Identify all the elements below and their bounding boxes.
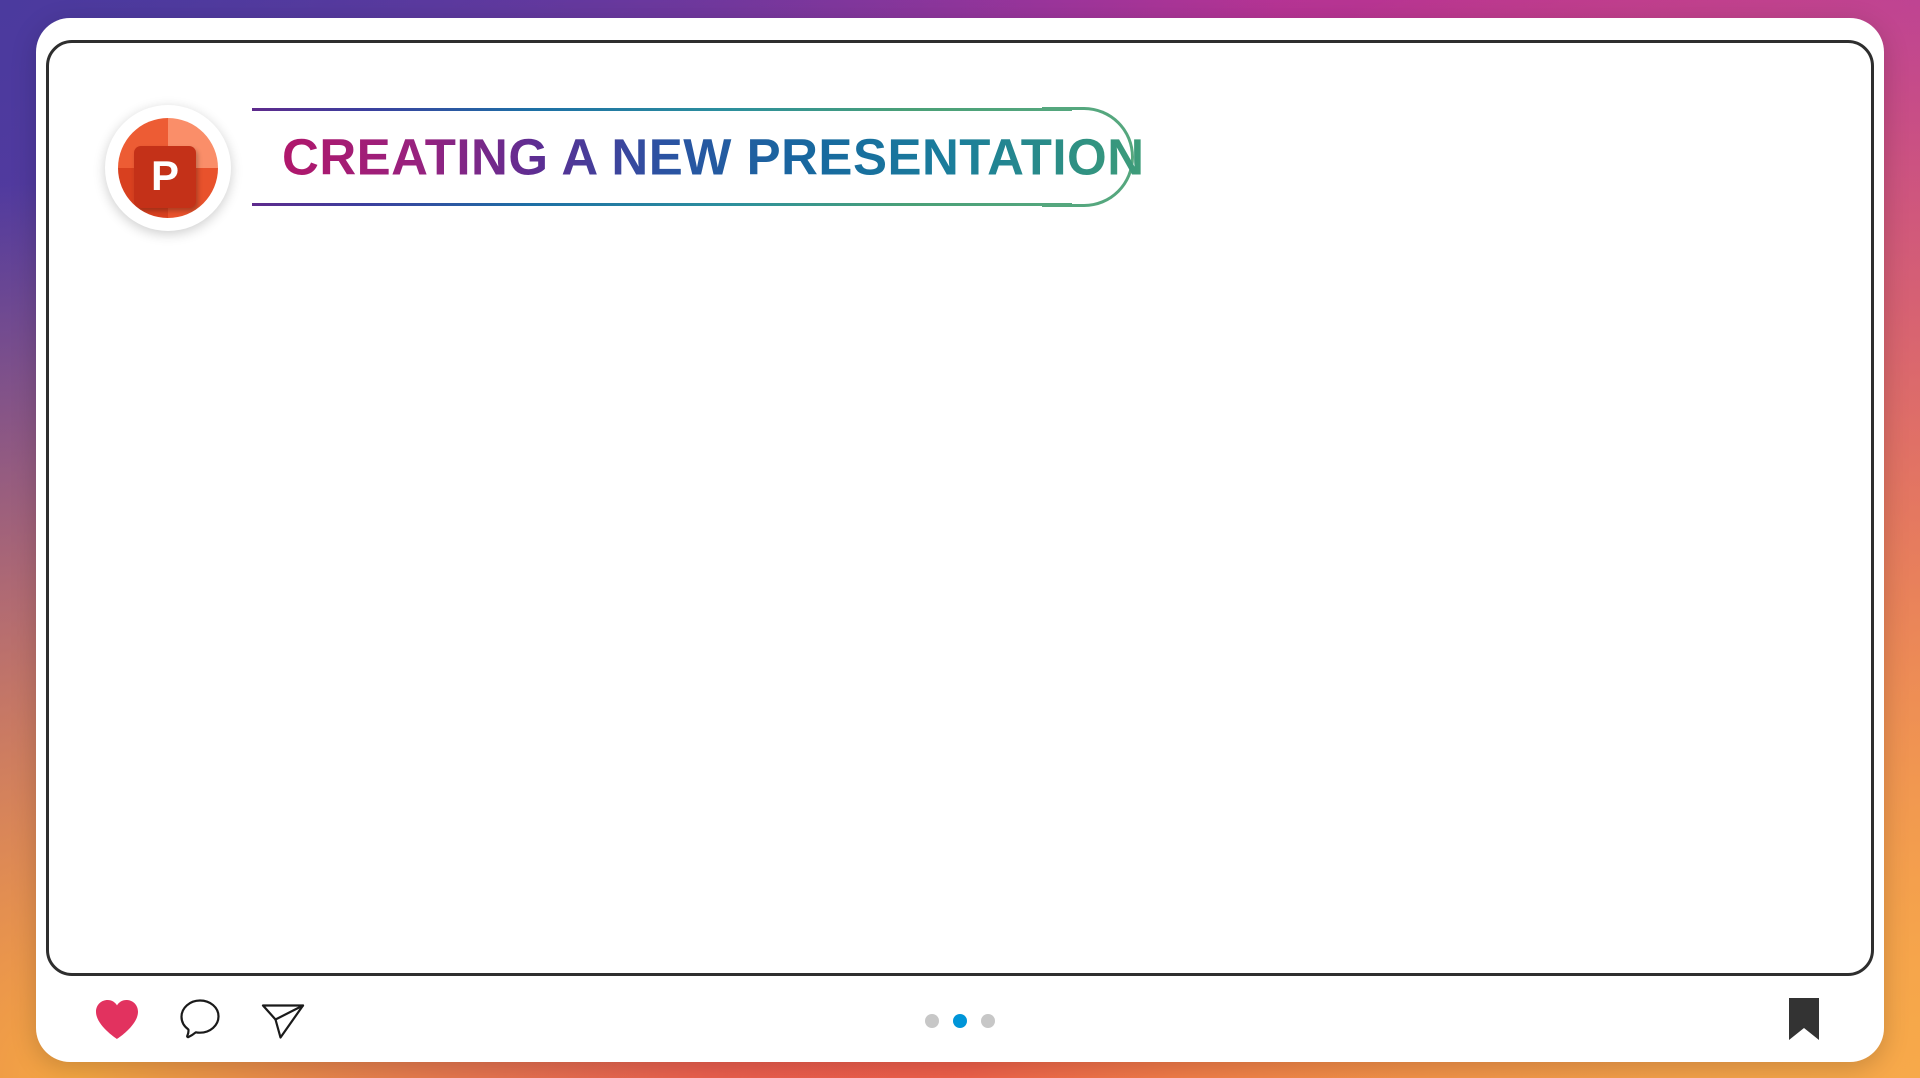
paper-plane-icon[interactable] [260,997,306,1046]
powerpoint-logo: P [105,105,231,231]
slide-body-text [252,253,1652,903]
powerpoint-letter-tile: P [134,146,196,208]
banner-bottom-rule [252,203,1072,206]
powerpoint-letter: P [134,146,196,208]
carousel-dot-2[interactable] [953,1014,967,1028]
instagram-post-backdrop: CREATING A NEW PRESENTATION P [0,0,1920,1078]
heart-icon[interactable] [94,998,140,1045]
action-bar-left-group [94,980,306,1062]
carousel-dots [36,980,1884,1062]
slide-canvas[interactable]: CREATING A NEW PRESENTATION P [46,40,1874,976]
post-card: CREATING A NEW PRESENTATION P [36,18,1884,1062]
slide-title: CREATING A NEW PRESENTATION [282,128,1145,187]
post-action-bar [36,980,1884,1062]
comment-bubble-icon[interactable] [178,997,222,1046]
action-bar-right-group [1784,980,1824,1062]
banner-top-rule [252,108,1072,111]
powerpoint-logo-circle: P [118,118,218,218]
carousel-dot-3[interactable] [981,1014,995,1028]
bookmark-icon[interactable] [1784,995,1824,1048]
carousel-dot-1[interactable] [925,1014,939,1028]
slide-title-banner: CREATING A NEW PRESENTATION [252,108,1132,206]
